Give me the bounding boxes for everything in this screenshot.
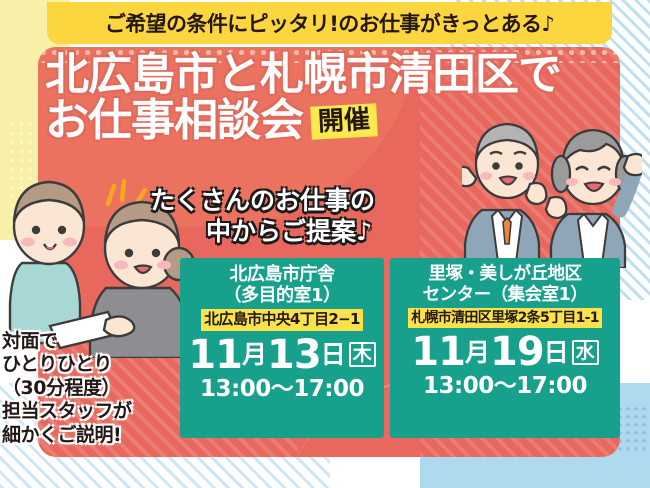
venue-time: 13:00〜17:00	[200, 377, 364, 402]
date-day-unit: 日	[321, 342, 346, 367]
note-line-3: （30分程度）	[2, 377, 132, 399]
venue-name: 北広島市庁舎 （多目的室1）	[223, 264, 340, 306]
subtitle-line-2: 中からご提案♪	[150, 217, 375, 248]
job-consultation-banner: ご希望の条件にピッタリ!のお仕事がきっとある♪ 北広島市と札幌市清田区で お仕事…	[0, 0, 650, 488]
venue-card-list: 北広島市庁舎 （多目的室1） 北広島市中央4丁目2−1 11 月 13 日 木 …	[180, 258, 620, 438]
note-line-5: 細かくご説明!	[2, 424, 132, 446]
venue-name-line-1: 里塚・美しが丘地区	[423, 264, 588, 285]
venue-date: 11 月 13 日 木	[188, 335, 375, 375]
venue-name-line-2: センター（集会室1）	[423, 285, 588, 306]
note-line-2: ひとりひとり	[2, 353, 132, 375]
date-month-number: 11	[188, 335, 242, 375]
date-weekday-badge: 水	[572, 340, 599, 365]
venue-name: 里塚・美しが丘地区 センター（集会室1）	[423, 264, 588, 305]
date-month-number: 11	[411, 332, 465, 372]
date-day-unit: 日	[544, 340, 569, 365]
notes-block: 対面で ひとりひとり （30分程度） 担当スタッフが 細かくご説明!	[2, 330, 132, 447]
venue-date: 11 月 19 日 水	[411, 332, 598, 372]
date-day-number: 13	[267, 335, 321, 375]
venue-card-kitahiroshima[interactable]: 北広島市庁舎 （多目的室1） 北広島市中央4丁目2−1 11 月 13 日 木 …	[180, 258, 384, 438]
venue-card-satozuka[interactable]: 里塚・美しが丘地区 センター（集会室1） 札幌市清田区里塚2条5丁目1-1 11…	[390, 258, 620, 438]
cheering-staff-illustration	[462, 118, 642, 272]
date-weekday-badge: 木	[349, 342, 376, 367]
venue-name-line-2: （多目的室1）	[223, 285, 340, 306]
date-month-unit: 月	[465, 340, 490, 365]
panel-dot-band	[38, 47, 620, 63]
venue-address: 北広島市中央4丁目2−1	[201, 309, 362, 330]
note-line-1: 対面で	[2, 330, 132, 352]
headline-text: ご希望の条件にピッタリ!のお仕事がきっとある♪	[105, 8, 554, 38]
venue-time: 13:00〜17:00	[423, 374, 587, 399]
venue-name-line-1: 北広島市庁舎	[223, 264, 340, 285]
date-day-number: 19	[490, 332, 544, 372]
note-line-4: 担当スタッフが	[2, 400, 132, 422]
venue-address: 札幌市清田区里塚2条5丁目1-1	[408, 308, 602, 328]
headline-bar: ご希望の条件にピッタリ!のお仕事がきっとある♪	[47, 2, 612, 44]
subtitle: たくさんのお仕事の 中からご提案♪	[150, 186, 375, 247]
date-month-unit: 月	[242, 342, 267, 367]
subtitle-line-1: たくさんのお仕事の	[150, 186, 375, 215]
